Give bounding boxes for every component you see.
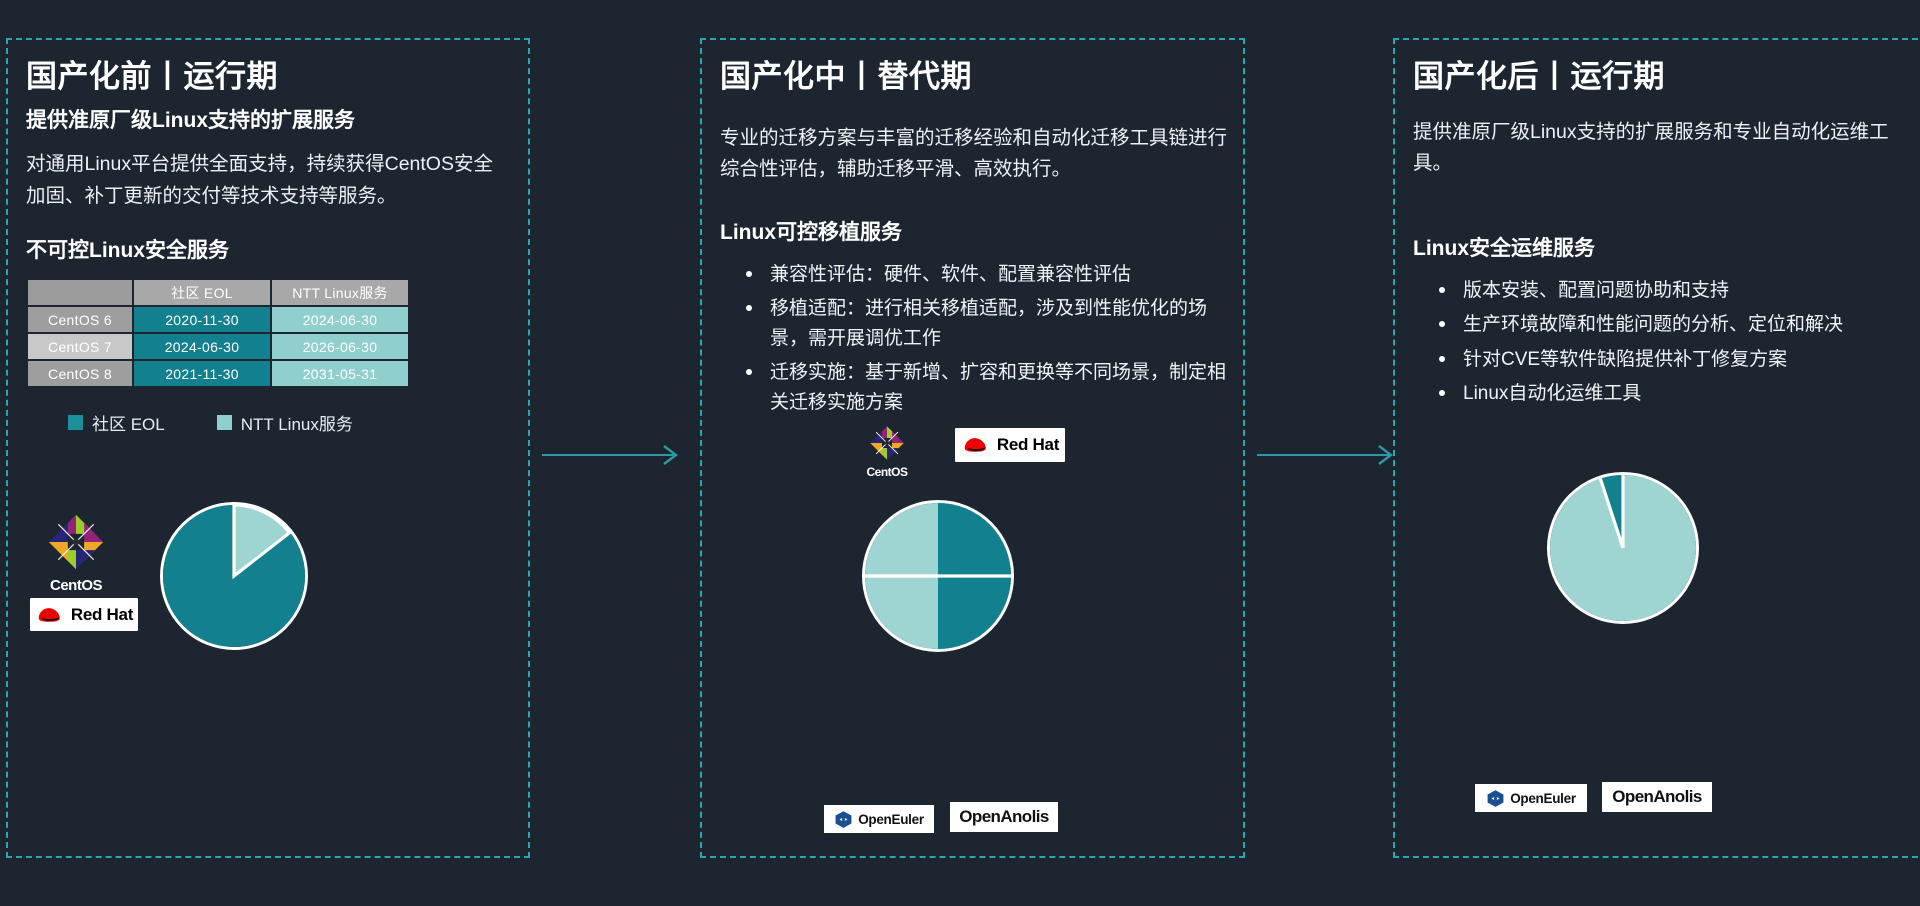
table-header-row: 社区 EOL NTT Linux服务: [28, 280, 408, 305]
table-header-ntt-linux: NTT Linux服务: [272, 280, 408, 305]
panel-during-section-heading: Linux可控移植服务: [720, 216, 1227, 246]
openeuler-mark-icon: [1486, 789, 1505, 808]
list-item: Linux自动化运维工具: [1439, 379, 1920, 408]
centos-eol-table: 社区 EOL NTT Linux服务 CentOS 6 2020-11-30 2…: [26, 278, 410, 388]
centos-logo-text: CentOS: [857, 465, 917, 479]
list-item: 针对CVE等软件缺陷提供补丁修复方案: [1439, 345, 1920, 374]
arrow-before-to-during-icon: [540, 440, 690, 470]
slide-canvas: 国产化前丨运行期 提供准原厂级Linux支持的扩展服务 对通用Linux平台提供…: [0, 0, 1920, 906]
redhat-logo: Red Hat: [955, 428, 1065, 462]
table-cell-community-eol: 2020-11-30: [134, 307, 270, 332]
table-row: CentOS 8 2021-11-30 2031-05-31: [28, 361, 408, 386]
redhat-fedora-icon: [35, 604, 65, 626]
panel-after-body: 提供准原厂级Linux支持的扩展服务和专业自动化运维工具。: [1413, 117, 1920, 180]
table-row: CentOS 7 2024-06-30 2026-06-30: [28, 334, 408, 359]
pie-legend: 社区 EOL NTT Linux服务: [26, 410, 512, 435]
table-cell-os: CentOS 7: [28, 334, 132, 359]
openeuler-logo-text: OpenEuler: [1510, 791, 1576, 806]
list-item: 兼容性评估：硬件、软件、配置兼容性评估: [746, 260, 1227, 289]
list-item: 版本安装、配置问题协助和支持: [1439, 276, 1920, 305]
openanolis-logo: OpenAnolis: [1602, 782, 1712, 812]
list-item: 迁移实施：基于新增、扩容和更换等不同场景，制定相关迁移实施方案: [746, 358, 1227, 417]
openeuler-logo-text: OpenEuler: [858, 812, 924, 827]
openeuler-logo: OpenEuler: [1475, 784, 1587, 812]
table-cell-community-eol: 2024-06-30: [134, 334, 270, 359]
legend-swatch-icon: [217, 415, 232, 430]
pie-chart-after: [1547, 472, 1699, 624]
panel-after-localization: 国产化后丨运行期 提供准原厂级Linux支持的扩展服务和专业自动化运维工具。 L…: [1393, 38, 1920, 858]
table-row: CentOS 6 2020-11-30 2024-06-30: [28, 307, 408, 332]
panel-after-section-heading: Linux安全运维服务: [1413, 232, 1920, 262]
centos-mark-icon: [866, 422, 908, 464]
redhat-logo-text: Red Hat: [71, 605, 133, 625]
legend-label: NTT Linux服务: [241, 410, 353, 435]
legend-label: 社区 EOL: [92, 410, 165, 435]
panel-before-section-heading: 不可控Linux安全服务: [26, 234, 512, 264]
panel-before-title: 国产化前丨运行期: [26, 58, 512, 97]
panel-after-title: 国产化后丨运行期: [1413, 58, 1920, 97]
table-cell-ntt-linux: 2026-06-30: [272, 334, 408, 359]
table-header-community-eol: 社区 EOL: [134, 280, 270, 305]
panel-during-localization: 国产化中丨替代期 专业的迁移方案与丰富的迁移经验和自动化迁移工具链进行综合性评估…: [700, 38, 1245, 858]
panel-during-content: 国产化中丨替代期 专业的迁移方案与丰富的迁移经验和自动化迁移工具链进行综合性评估…: [720, 52, 1227, 422]
openeuler-mark-icon: [834, 810, 853, 829]
table-cell-ntt-linux: 2024-06-30: [272, 307, 408, 332]
pie-chart-before: [160, 502, 308, 650]
list-item: 生产环境故障和性能问题的分析、定位和解决: [1439, 310, 1920, 339]
pie-chart-during-svg: [865, 503, 1011, 649]
panel-during-body: 专业的迁移方案与丰富的迁移经验和自动化迁移工具链进行综合性评估，辅助迁移平滑、高…: [720, 123, 1227, 186]
centos-mark-icon: [42, 508, 110, 576]
openeuler-logo: OpenEuler: [824, 805, 934, 833]
centos-logo-text: CentOS: [40, 577, 112, 594]
pie-chart-before-svg: [163, 505, 305, 647]
panel-before-body: 对通用Linux平台提供全面支持，持续获得CentOS安全加固、补丁更新的交付等…: [26, 149, 512, 212]
centos-logo: CentOS: [40, 508, 112, 594]
legend-item-ntt-linux: NTT Linux服务: [217, 410, 353, 435]
openanolis-logo: OpenAnolis: [950, 802, 1058, 832]
redhat-logo-text: Red Hat: [997, 435, 1059, 455]
panel-after-bullet-list: 版本安装、配置问题协助和支持 生产环境故障和性能问题的分析、定位和解决 针对CV…: [1413, 276, 1920, 409]
panel-before-content: 国产化前丨运行期 提供准原厂级Linux支持的扩展服务 对通用Linux平台提供…: [26, 52, 512, 435]
redhat-fedora-icon: [961, 434, 991, 456]
legend-swatch-icon: [68, 415, 83, 430]
panel-before-localization: 国产化前丨运行期 提供准原厂级Linux支持的扩展服务 对通用Linux平台提供…: [6, 38, 530, 858]
table-cell-community-eol: 2021-11-30: [134, 361, 270, 386]
panel-after-content: 国产化后丨运行期 提供准原厂级Linux支持的扩展服务和专业自动化运维工具。 L…: [1413, 52, 1920, 414]
arrow-during-to-after-icon: [1255, 440, 1405, 470]
table-cell-os: CentOS 8: [28, 361, 132, 386]
list-item: 移植适配：进行相关移植适配，涉及到性能优化的场景，需开展调优工作: [746, 294, 1227, 353]
table-header-blank: [28, 280, 132, 305]
legend-item-community-eol: 社区 EOL: [68, 410, 165, 435]
openanolis-logo-text: OpenAnolis: [959, 807, 1048, 827]
redhat-logo: Red Hat: [30, 598, 138, 631]
table-cell-ntt-linux: 2031-05-31: [272, 361, 408, 386]
table-cell-os: CentOS 6: [28, 307, 132, 332]
pie-chart-after-svg: [1550, 475, 1696, 621]
openanolis-logo-text: OpenAnolis: [1612, 787, 1701, 807]
panel-before-subtitle: 提供准原厂级Linux支持的扩展服务: [26, 107, 512, 135]
pie-chart-during: [862, 500, 1014, 652]
panel-during-bullet-list: 兼容性评估：硬件、软件、配置兼容性评估 移植适配：进行相关移植适配，涉及到性能优…: [720, 260, 1227, 417]
panel-during-title: 国产化中丨替代期: [720, 58, 1227, 97]
centos-logo: CentOS: [857, 422, 917, 479]
